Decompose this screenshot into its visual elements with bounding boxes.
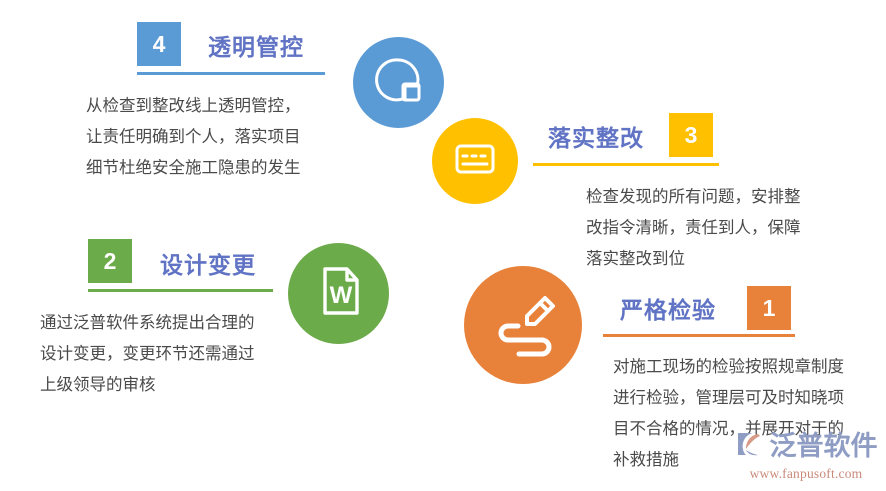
item-1-number-badge: 1	[747, 286, 791, 330]
watermark-brand-row: 泛普软件	[735, 429, 878, 464]
item-2-line-2: 设计变更，变更环节还需通过	[40, 338, 255, 369]
item-3-description: 检查发现的所有问题，安排整 改指令清晰，责任到人，保障 落实整改到位	[586, 181, 801, 274]
item-2-title: 设计变更	[160, 246, 256, 280]
item-1-line-1: 对施工现场的检验按照规章制度	[613, 351, 844, 382]
item-3-icon-circle	[432, 118, 518, 204]
item-3-line-2: 改指令清晰，责任到人，保障	[586, 212, 801, 243]
item-1-line-2: 进行检验，管理层可及时知晓项	[613, 382, 844, 413]
item-3-title: 落实整改	[548, 119, 644, 153]
item-2-icon-circle: W	[288, 243, 389, 344]
item-3-divider	[533, 163, 719, 166]
item-1-icon-circle	[464, 266, 582, 384]
item-2-number-badge: 2	[88, 239, 132, 283]
pen-signature-icon	[486, 286, 560, 365]
item-4-line-2: 让责任明确到个人，落实项目	[86, 121, 301, 152]
item-4-divider	[137, 72, 325, 75]
item-4-number: 4	[153, 33, 166, 56]
item-2-line-1: 通过泛普软件系统提出合理的	[40, 307, 255, 338]
item-1-divider	[603, 334, 795, 337]
item-2-divider	[88, 289, 273, 292]
item-2-description: 通过泛普软件系统提出合理的 设计变更，变更环节还需通过 上级领导的审核	[40, 307, 255, 400]
fanpu-logo-icon	[735, 429, 765, 464]
item-2-line-3: 上级领导的审核	[40, 369, 255, 400]
item-4-icon-circle	[353, 37, 444, 128]
watermark-brand: 泛普软件	[770, 433, 878, 460]
item-2-number: 2	[104, 250, 117, 273]
watermark: 泛普软件 www.fanpusoft.com	[732, 427, 880, 483]
watermark-url: www.fanpusoft.com	[750, 466, 863, 482]
pie-chart-square-icon	[372, 53, 426, 112]
item-3-line-1: 检查发现的所有问题，安排整	[586, 181, 801, 212]
item-1-number: 1	[763, 297, 776, 320]
item-4-description: 从检查到整改线上透明管控， 让责任明确到个人，落实项目 细节杜绝安全施工隐患的发…	[86, 90, 301, 183]
item-4-number-badge: 4	[137, 22, 181, 66]
item-1-title: 严格检验	[620, 291, 716, 325]
item-3-number: 3	[685, 124, 698, 147]
infographic-canvas: 4 透明管控 从检查到整改线上透明管控， 让责任明确到个人，落实项目 细节杜绝安…	[0, 0, 886, 491]
item-4-title: 透明管控	[208, 28, 304, 62]
item-4-line-3: 细节杜绝安全施工隐患的发生	[86, 152, 301, 183]
word-document-icon: W	[309, 261, 369, 326]
item-4-line-1: 从检查到整改线上透明管控，	[86, 90, 301, 121]
item-3-number-badge: 3	[669, 113, 713, 157]
document-lines-icon	[450, 134, 500, 189]
svg-text:W: W	[329, 282, 352, 309]
item-3-line-3: 落实整改到位	[586, 243, 801, 274]
